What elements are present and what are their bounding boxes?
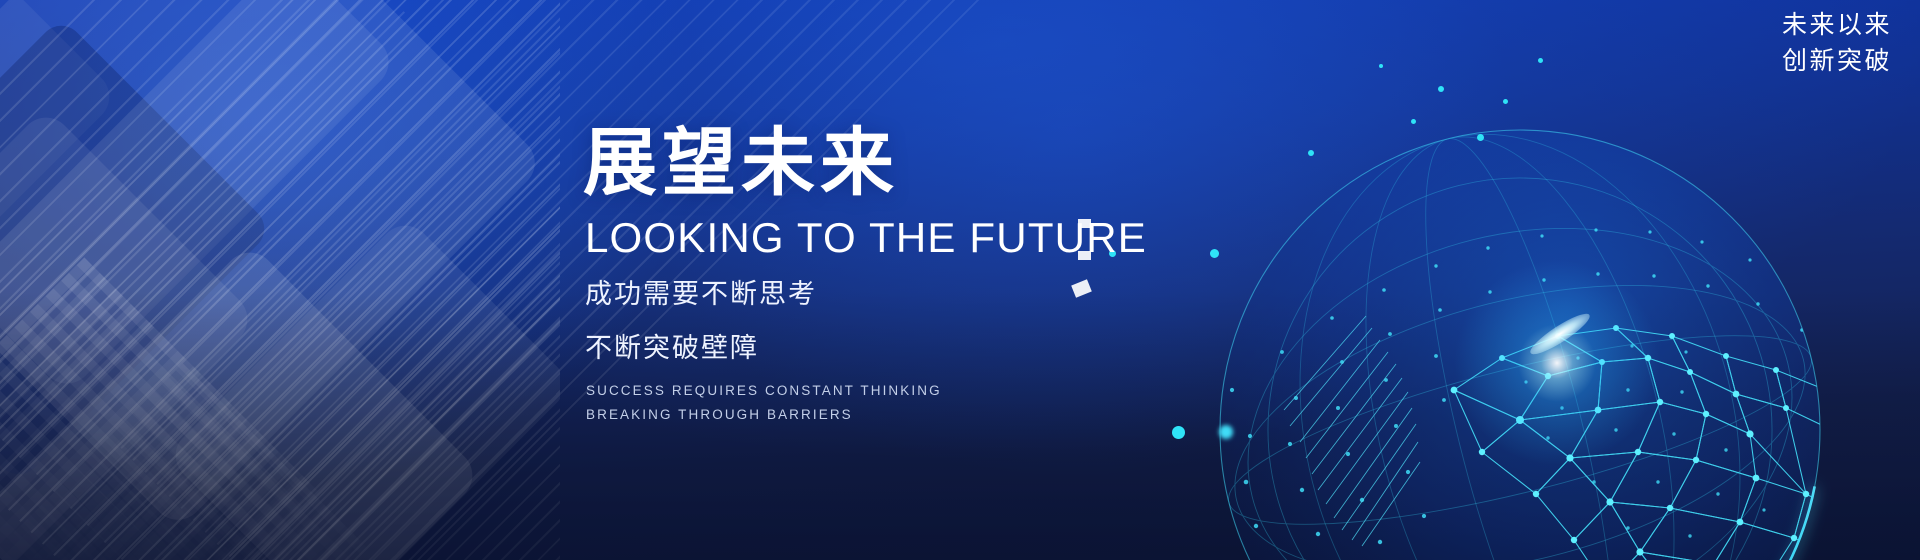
subtitle-cn-line1: 成功需要不断思考 bbox=[585, 275, 1223, 313]
subtitle-en-line2: BREAKING THROUGH BARRIERS bbox=[586, 403, 1223, 428]
particle-dot bbox=[1538, 58, 1543, 63]
subtitle-cn-line2: 不断突破壁障 bbox=[585, 329, 1223, 367]
subtitle-en-line1: SUCCESS REQUIRES CONSTANT THINKING bbox=[586, 379, 1223, 404]
particle-dot bbox=[1477, 134, 1484, 141]
particle-dot bbox=[1379, 64, 1383, 68]
corner-slogan: 未来以来 创新突破 bbox=[1782, 8, 1892, 79]
corner-slogan-line2: 创新突破 bbox=[1782, 44, 1892, 80]
headline-block: 展望未来 LOOKING TO THE FUTURE 成功需要不断思考 不断突破… bbox=[583, 126, 1223, 428]
banner-root: 展望未来 LOOKING TO THE FUTURE 成功需要不断思考 不断突破… bbox=[0, 0, 1920, 560]
corner-slogan-line1: 未来以来 bbox=[1782, 8, 1892, 44]
particle-dot bbox=[1411, 119, 1416, 124]
page-title-cn: 展望未来 bbox=[583, 126, 1223, 200]
particle-dot bbox=[1438, 86, 1444, 92]
page-title-en: LOOKING TO THE FUTURE bbox=[585, 217, 1223, 259]
particle-dot bbox=[1503, 99, 1508, 104]
particle-dot bbox=[1308, 150, 1314, 156]
